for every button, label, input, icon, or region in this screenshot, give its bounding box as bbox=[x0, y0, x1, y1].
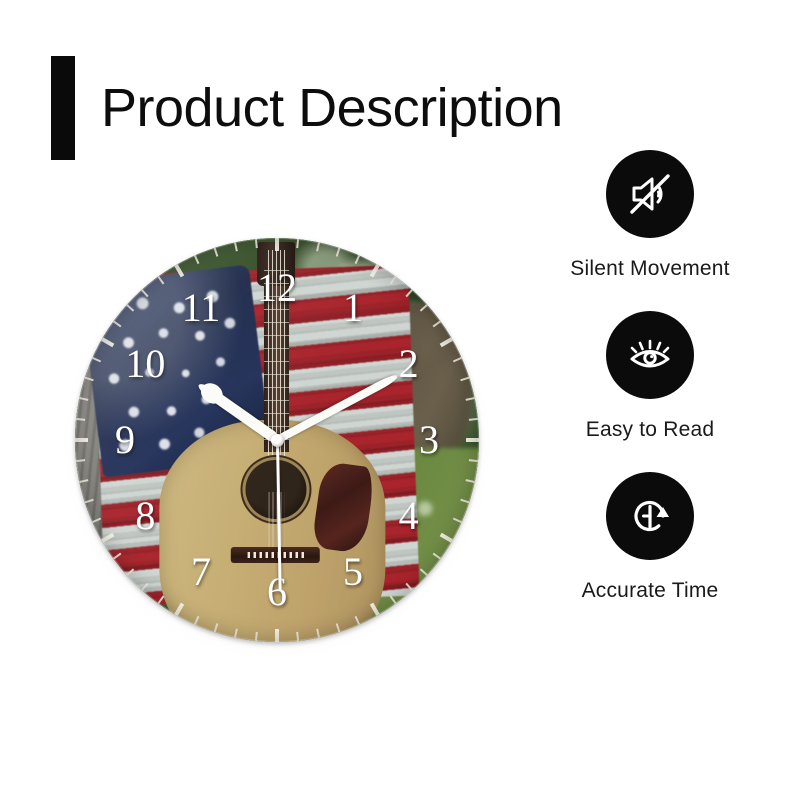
guitar-bridge-pins bbox=[248, 552, 305, 558]
page-header: Product Description bbox=[51, 56, 563, 160]
guitar-lower-strings bbox=[269, 492, 285, 551]
feature-easy-to-read: Easy to Read bbox=[530, 311, 770, 442]
page-title: Product Description bbox=[101, 81, 563, 135]
eye-icon bbox=[606, 311, 694, 399]
product-image-wall-clock: 121234567891011 bbox=[75, 238, 479, 642]
feature-accurate-time: Accurate Time bbox=[530, 472, 770, 603]
feature-label: Silent Movement bbox=[570, 257, 729, 281]
clock-arrow-icon bbox=[606, 472, 694, 560]
feature-label: Easy to Read bbox=[586, 418, 714, 442]
clock-face: 121234567891011 bbox=[75, 238, 479, 642]
muted-speaker-icon bbox=[606, 150, 694, 238]
feature-list: Silent Movement Easy to Read bbox=[530, 150, 770, 633]
header-accent-bar bbox=[51, 56, 75, 160]
feature-label: Accurate Time bbox=[582, 579, 719, 603]
artwork-acoustic-guitar bbox=[75, 246, 479, 642]
feature-silent-movement: Silent Movement bbox=[530, 150, 770, 281]
